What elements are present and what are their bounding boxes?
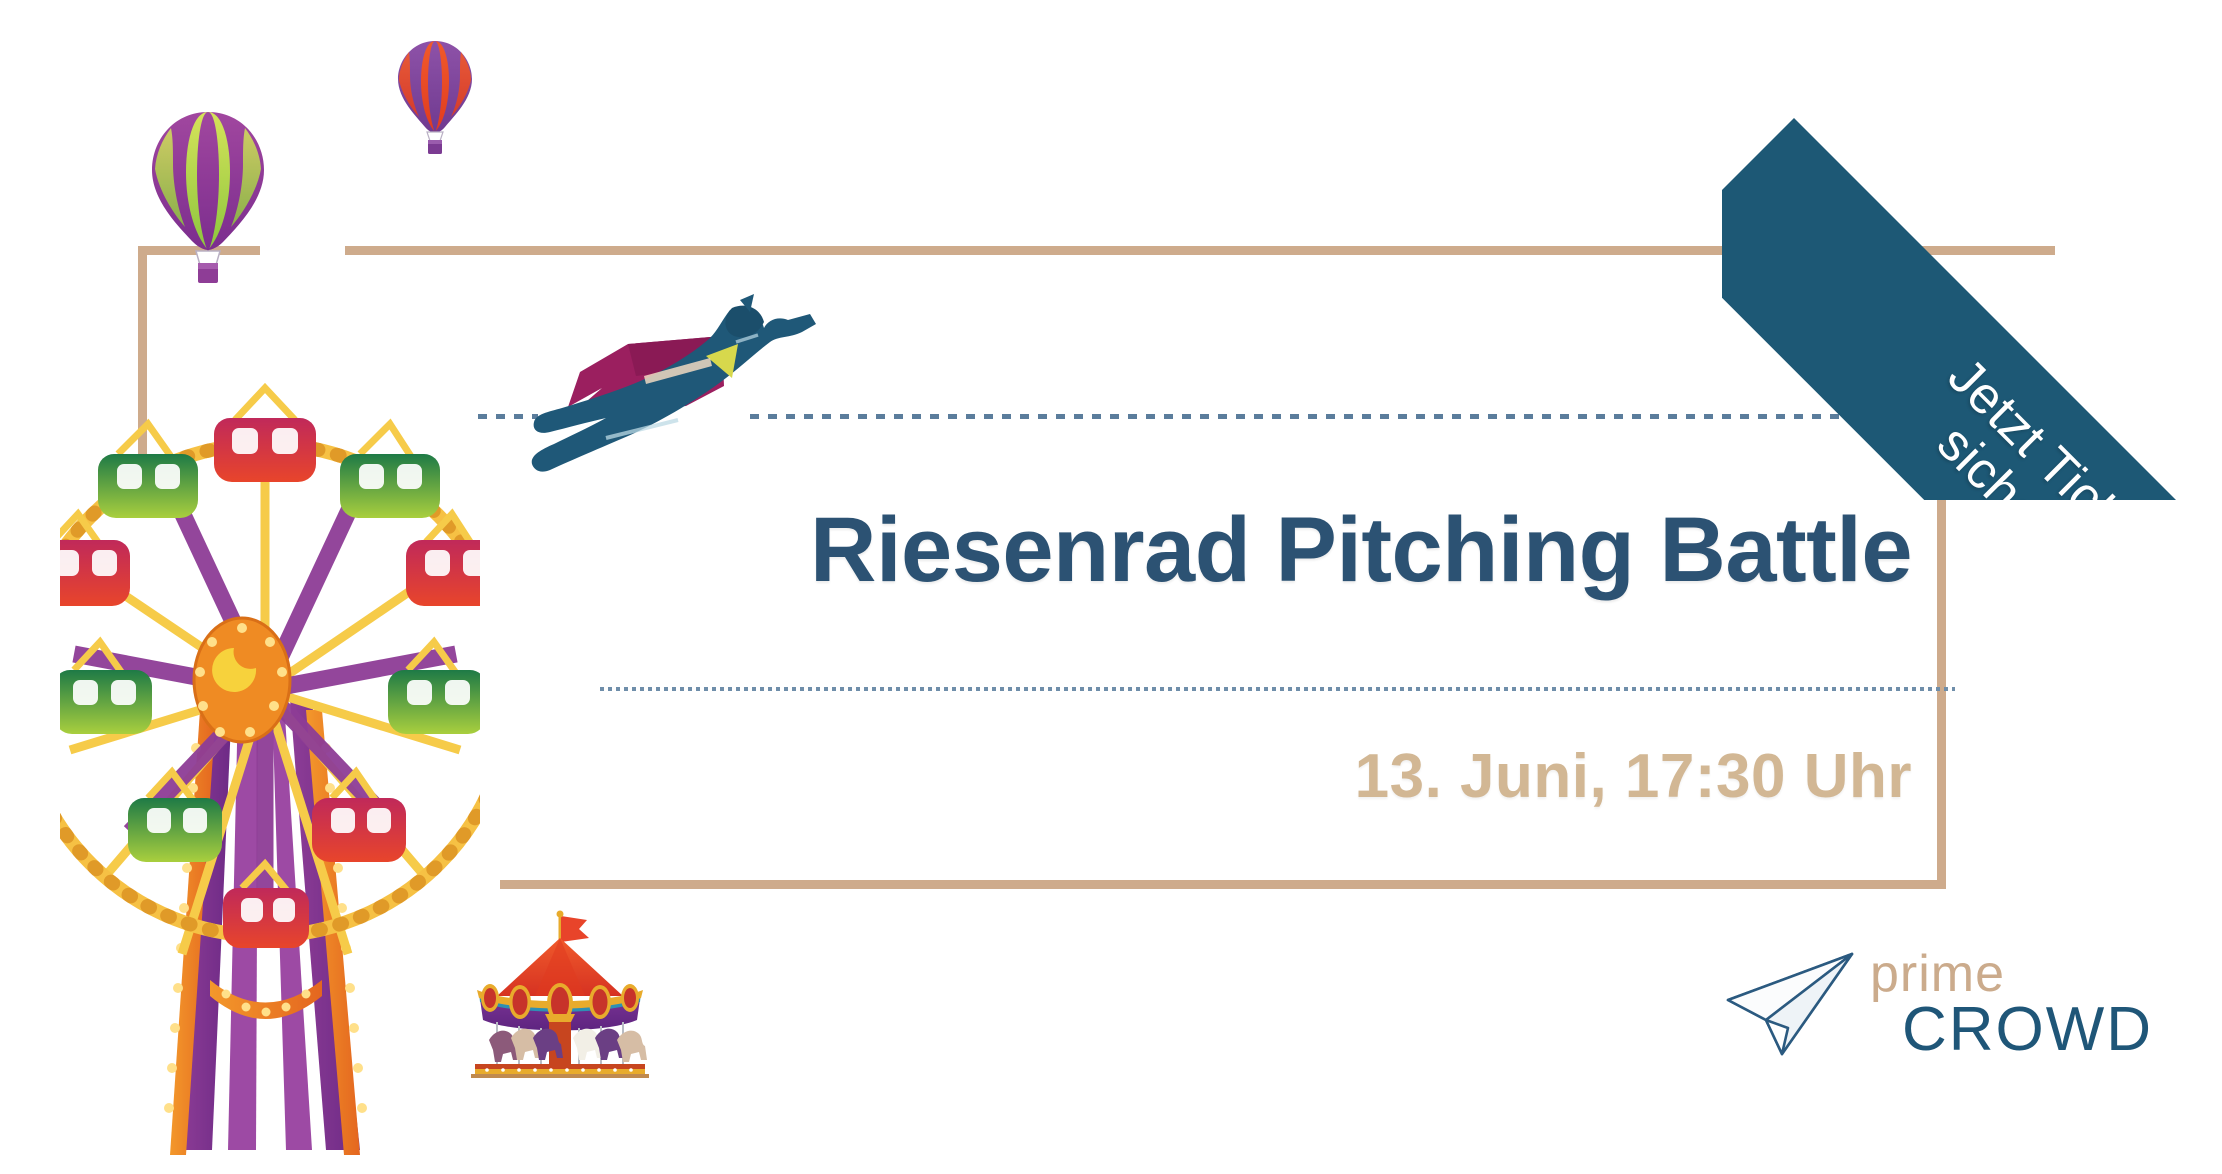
flying-superhero-icon <box>510 280 820 495</box>
page-title: Riesenrad Pitching Battle <box>0 498 1912 603</box>
paper-plane-icon <box>1722 950 1862 1058</box>
hot-air-balloon-small-icon <box>395 40 475 158</box>
dotted-rule-upper-right <box>750 414 1960 419</box>
ribbon-label: Jetzt Ticket sichern! <box>1792 242 2164 500</box>
buy-ticket-ribbon[interactable]: Jetzt Ticket sichern! <box>1722 118 2222 500</box>
event-datetime: 13. Juni, 17:30 Uhr <box>0 741 1912 812</box>
event-poster: Riesenrad Pitching Battle 13. Juni, 17:3… <box>0 0 2222 1174</box>
hot-air-balloon-large-icon <box>148 110 268 290</box>
frame-bottom-border <box>500 880 1946 889</box>
logo-word-crowd: CROWD <box>1902 994 2153 1065</box>
carousel-icon <box>465 910 655 1085</box>
dotted-rule-lower <box>600 687 1955 691</box>
primecrowd-logo[interactable]: prime CROWD <box>1722 940 2062 1080</box>
